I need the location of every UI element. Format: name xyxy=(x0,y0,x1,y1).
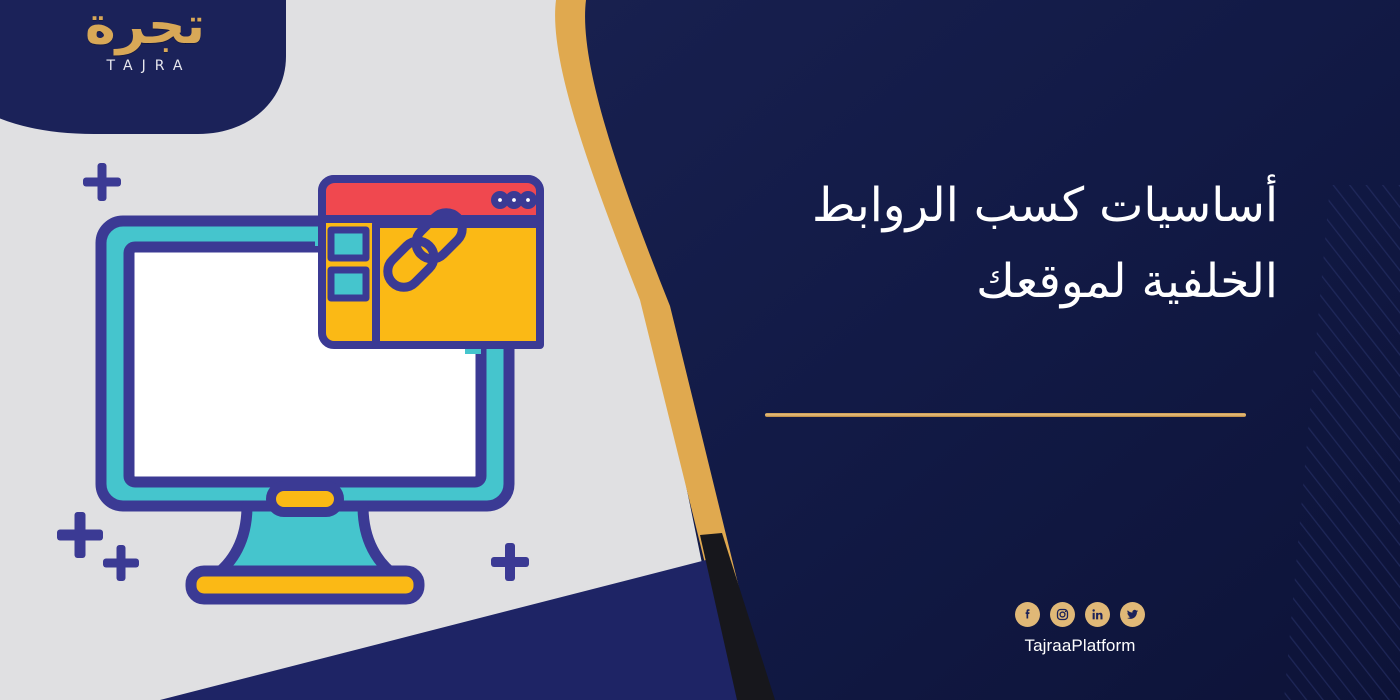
plus-decor-top-left xyxy=(83,163,121,201)
headline-line-1: أساسيات كسب الروابط xyxy=(718,168,1278,244)
logo-arabic-wordmark: تجرة xyxy=(85,0,205,52)
browser-window-illustration xyxy=(315,172,547,357)
browser-titlebar-dots xyxy=(491,191,537,209)
browser-sidebar-tile-2 xyxy=(331,270,366,298)
linkedin-icon[interactable] xyxy=(1085,602,1110,627)
cover-canvas: تجرة TAJRA xyxy=(0,0,1400,700)
brand-logo-badge[interactable]: تجرة TAJRA xyxy=(0,0,286,134)
headline-line-2: الخلفية لموقعك xyxy=(718,244,1278,320)
facebook-icon[interactable] xyxy=(1015,602,1040,627)
browser-sidebar-tile-1 xyxy=(331,230,366,258)
page-title: أساسيات كسب الروابط الخلفية لموقعك xyxy=(718,168,1278,320)
monitor-stand-base xyxy=(191,571,419,599)
title-gold-rule xyxy=(765,413,1246,417)
monitor-power-button xyxy=(271,486,339,512)
social-footer: TajraaPlatform xyxy=(1010,602,1150,656)
logo-latin-wordmark: TAJRA xyxy=(107,58,192,74)
social-handle-label: TajraaPlatform xyxy=(1025,636,1136,656)
social-icon-row xyxy=(1015,602,1145,627)
twitter-icon[interactable] xyxy=(1120,602,1145,627)
instagram-icon[interactable] xyxy=(1050,602,1075,627)
